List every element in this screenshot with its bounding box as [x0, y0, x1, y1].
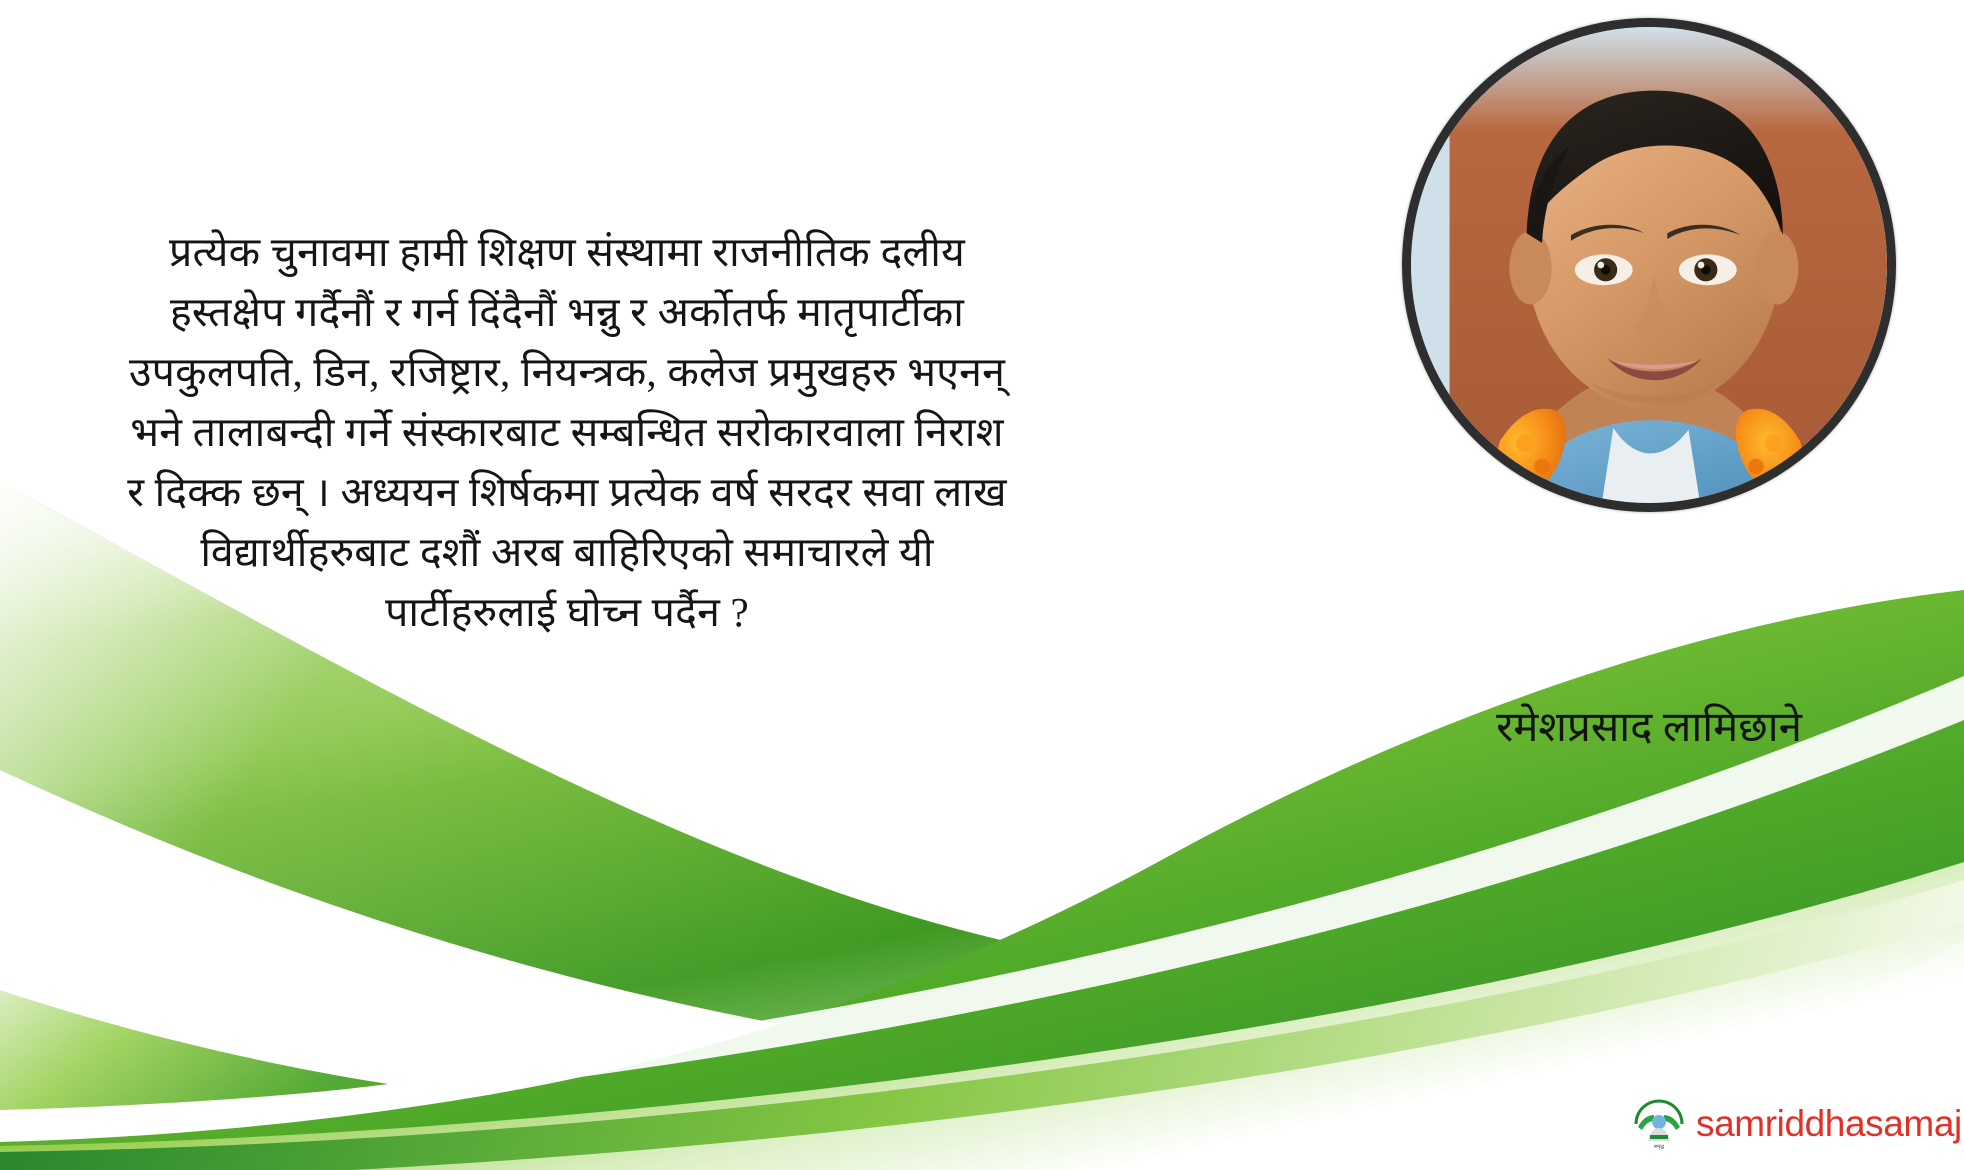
quote-line: पार्टीहरुलाई घोच्न पर्दैन ?	[62, 582, 1072, 642]
brand-site-label[interactable]: samriddhasamaj.com	[1696, 1102, 1964, 1146]
speaker-portrait	[1402, 18, 1896, 512]
quote-line: प्रत्येक चुनावमा हामी शिक्षण संस्थामा रा…	[62, 222, 1072, 282]
quote-line: उपकुलपति, डिन, रजिष्ट्रार, नियन्त्रक, कल…	[62, 342, 1072, 402]
quote-line: विद्यार्थीहरुबाट दशौं अरब बाहिरिएको समाच…	[62, 522, 1072, 582]
quote-text-block: प्रत्येक चुनावमा हामी शिक्षण संस्थामा रा…	[62, 222, 1072, 642]
brand-watermark[interactable]: समृद्ध samriddhasamaj.com	[1632, 1096, 1964, 1152]
speaker-name: रमेशप्रसाद लामिछाने	[1402, 700, 1896, 756]
svg-text:समृद्ध: समृद्ध	[1654, 1144, 1665, 1150]
portrait-photo	[1411, 27, 1887, 503]
quote-line: भने तालाबन्दी गर्ने संस्कारबाट सम्बन्धित…	[62, 402, 1072, 462]
quote-line: हस्तक्षेप गर्दैनौं र गर्न दिंदैनौं भन्नु…	[62, 282, 1072, 342]
quote-card: प्रत्येक चुनावमा हामी शिक्षण संस्थामा रा…	[0, 0, 1964, 1170]
quote-line: र दिक्क छन् । अध्ययन शिर्षकमा प्रत्येक व…	[62, 462, 1072, 522]
samriddha-samaj-logo-icon: समृद्ध	[1632, 1097, 1686, 1151]
